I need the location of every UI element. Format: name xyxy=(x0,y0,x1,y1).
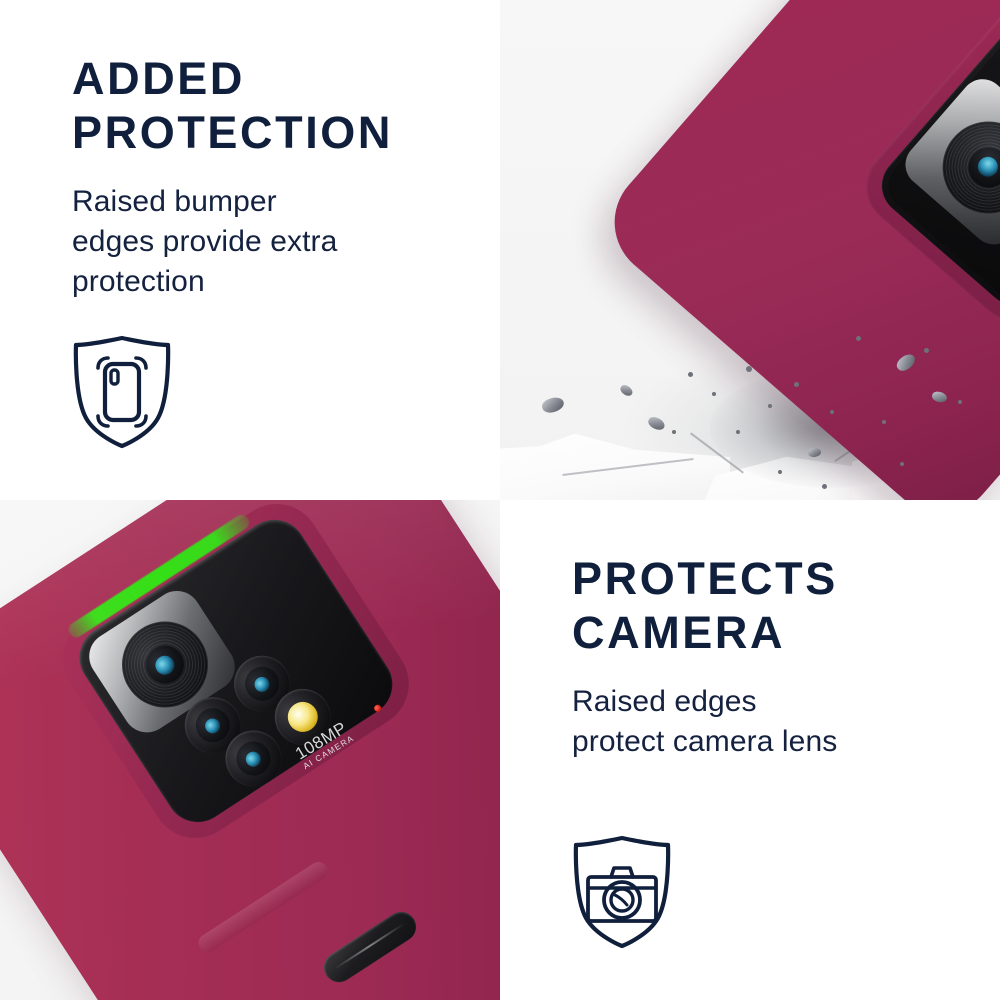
debris-speck-10 xyxy=(958,400,962,404)
debris-speck-7 xyxy=(856,336,861,341)
debris-speck-4 xyxy=(768,404,772,408)
camera-closeup-scene: 108MP AI CAMERA xyxy=(0,500,500,1000)
panel-added-protection: ADDED PROTECTION Raised bumper edges pro… xyxy=(0,0,500,500)
panel-camera-closeup-photo: 108MP AI CAMERA xyxy=(0,500,500,1000)
added-protection-text-block: ADDED PROTECTION Raised bumper edges pro… xyxy=(72,52,472,302)
debris-speck-11 xyxy=(778,470,782,474)
added-protection-heading: ADDED PROTECTION xyxy=(72,52,472,160)
panel-protects-camera: PROTECTS CAMERA Raised edges protect cam… xyxy=(500,500,1000,1000)
shield-camera-icon xyxy=(570,834,674,950)
debris-speck-1 xyxy=(688,372,693,377)
protects-camera-body: Raised edges protect camera lens xyxy=(572,682,972,762)
added-protection-body: Raised bumper edges provide extra protec… xyxy=(72,182,472,302)
protects-camera-text-block: PROTECTS CAMERA Raised edges protect cam… xyxy=(572,552,972,762)
shield-phone-icon xyxy=(70,334,174,450)
product-feature-collage: ADDED PROTECTION Raised bumper edges pro… xyxy=(0,0,1000,1000)
debris-speck-2 xyxy=(712,392,716,396)
debris-speck-5 xyxy=(794,382,799,387)
camera-main-lens-glint xyxy=(974,153,1000,181)
closeup-main-lens-glint xyxy=(152,652,178,678)
camera-main-lens-glass xyxy=(960,139,1000,195)
protects-camera-heading: PROTECTS CAMERA xyxy=(572,552,972,660)
debris-speck-12 xyxy=(822,484,827,489)
debris-speck-15 xyxy=(736,430,740,434)
camera-main-lens-pad xyxy=(896,70,1000,253)
camera-lens-lower xyxy=(993,140,1000,227)
camera-lens-upper-left xyxy=(985,67,1000,154)
debris-speck-13 xyxy=(672,430,676,434)
camera-main-lens xyxy=(924,103,1000,233)
camera-bump xyxy=(870,0,1000,317)
debris-speck-9 xyxy=(924,348,929,353)
closeup-lens-top-right-glint xyxy=(252,674,273,695)
closeup-lens-bottom-left-glint xyxy=(243,749,264,770)
closeup-lens-top-left-glint xyxy=(202,716,223,737)
camera-bump-inner xyxy=(878,0,1000,309)
closeup-lens-bottom-left-glass xyxy=(230,735,277,782)
debris-speck-8 xyxy=(882,420,886,424)
debris-speck-6 xyxy=(830,410,834,414)
panel-drop-impact-photo: 108MP AI CAMERA xyxy=(500,0,1000,500)
drop-impact-scene: 108MP AI CAMERA xyxy=(500,0,1000,500)
camera-bump-raised-lip xyxy=(850,0,1000,337)
debris-speck-14 xyxy=(900,462,904,466)
debris-speck-3 xyxy=(746,366,752,372)
